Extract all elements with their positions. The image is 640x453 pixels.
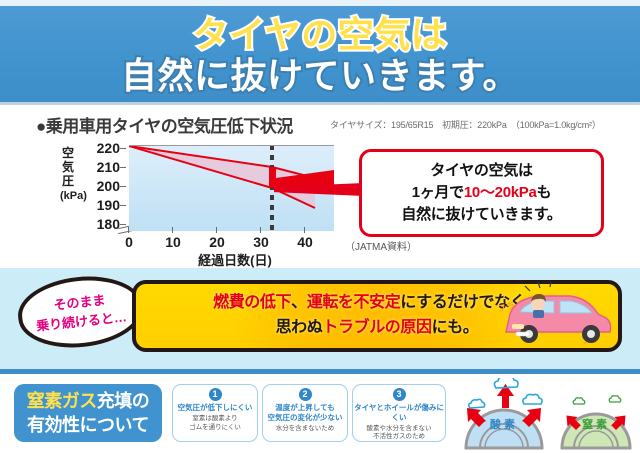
benefit-card-2: 2 温度が上昇しても 空気圧の変化が少ない 水分を含まないため — [262, 384, 348, 442]
card-2-heading-line2: 空気圧の変化が少ない — [268, 413, 343, 422]
warning-line2-post: にも。 — [432, 319, 479, 336]
callout-line1: タイヤの空気は — [430, 160, 532, 182]
card-1-number: 1 — [209, 388, 222, 401]
card-3-heading: タイヤとホイールが傷みにくい — [353, 403, 445, 423]
nitrogen-title-box: 窒素ガス充填の 有効性について — [14, 384, 162, 442]
benefit-card-3: 3 タイヤとホイールが傷みにくい 酸素や水分を含まない 不活性ガスのため — [352, 384, 446, 442]
callout-line2: 1ヶ月で10〜20kPaも — [412, 182, 552, 204]
pressure-decline-chart: 空気圧 (kPa) 220 210 200 190 180 0 10 20 30… — [60, 140, 350, 260]
card-3-sub-line1: 酸素や水分を含まない — [367, 425, 432, 432]
x-tick-0: 0 — [117, 234, 141, 250]
card-1-sub-line2: ゴムを通りにくい — [189, 424, 241, 431]
pink-car-icon: フラ フラ — [496, 282, 620, 350]
nitrogen-title-rest: 充填の — [97, 391, 150, 411]
chart-note: タイヤサイズ：195/65R15 初期圧：220kPa （100kPa=1.0k… — [330, 118, 601, 131]
x-tick-10: 10 — [161, 234, 185, 250]
header-title-line1: タイヤの空気は — [0, 17, 640, 53]
gas-comparison-diagram: 酸素 窒素 — [452, 378, 638, 450]
callout-line2-pre: 1ヶ月で — [412, 184, 464, 201]
warning-line2-pre: 思わぬ — [276, 319, 323, 336]
warning-sep: 、 — [291, 294, 307, 311]
callout-box: タイヤの空気は 1ヶ月で10〜20kPaも 自然に抜けていきます。 — [359, 149, 604, 237]
callout-line3: 自然に抜けていきます。 — [401, 204, 561, 226]
warning-em-trouble: トラブルの原因 — [322, 319, 431, 336]
oxygen-label: 酸素 — [490, 417, 518, 431]
nitrogen-title-accent: 窒素ガス — [27, 391, 97, 411]
nitrogen-title-line2: 有効性について — [27, 413, 149, 437]
warning-line2: 思わぬトラブルの原因にも。 — [276, 316, 479, 341]
card-1-sub-line1: 窒素は酸素より — [192, 415, 237, 422]
chart-source: （JATMA資料） — [345, 238, 417, 253]
x-axis-title: 経過日数(日) — [120, 250, 350, 269]
y-tick-200: 200 — [78, 178, 120, 194]
x-tick-40: 40 — [293, 234, 317, 250]
y-tick-190: 190 — [78, 197, 120, 213]
header-banner: タイヤの空気は 自然に抜けていきます。 — [0, 6, 640, 102]
chart-title: ●乗用車用タイヤの空気圧低下状況 — [36, 112, 293, 137]
y-tick-220: 220 — [78, 140, 120, 156]
warning-em-fuel: 燃費の低下 — [213, 294, 291, 311]
warning-line1: 燃費の低下、運転を不安定にするだけでなく、 — [213, 291, 541, 316]
speech-line2: 乗り続けると… — [35, 307, 128, 336]
card-3-sub-line2: 不活性ガスのため — [373, 433, 425, 440]
card-2-heading-line1: 温度が上昇しても — [275, 403, 334, 412]
card-1-sub: 窒素は酸素より ゴムを通りにくい — [189, 415, 241, 433]
card-2-number: 2 — [299, 388, 312, 401]
y-tick-180: 180 — [78, 216, 120, 232]
card-2-heading: 温度が上昇しても 空気圧の変化が少ない — [268, 403, 343, 423]
card-1-heading: 空気圧が低下しにくい — [178, 403, 253, 413]
x-tick-20: 20 — [205, 234, 229, 250]
header-title-line2: 自然に抜けていきます。 — [0, 58, 640, 94]
callout-emphasis: 10〜20kPa — [464, 184, 537, 201]
card-3-number: 3 — [393, 388, 406, 401]
y-axis-title: 空気圧 (kPa) — [60, 146, 76, 203]
nitrogen-label: 窒素 — [582, 417, 610, 431]
y-axis-label: 空気圧 — [62, 146, 74, 188]
card-2-sub: 水分を含まないため — [276, 425, 335, 434]
x-tick-30: 30 — [249, 234, 273, 250]
callout-line2-post: も — [537, 184, 552, 201]
y-tick-210: 210 — [78, 159, 120, 175]
shake-lines — [525, 282, 551, 291]
warning-em-unstable: 運転を不安定 — [307, 294, 401, 311]
nitrogen-title-line1: 窒素ガス充填の — [27, 389, 150, 413]
range-marker-10-20kpa — [269, 167, 276, 188]
nitrogen-cloud-icons — [573, 396, 621, 404]
benefit-card-1: 1 空気圧が低下しにくい 窒素は酸素より ゴムを通りにくい — [172, 384, 258, 442]
card-3-sub: 酸素や水分を含まない 不活性ガスのため — [367, 425, 432, 443]
